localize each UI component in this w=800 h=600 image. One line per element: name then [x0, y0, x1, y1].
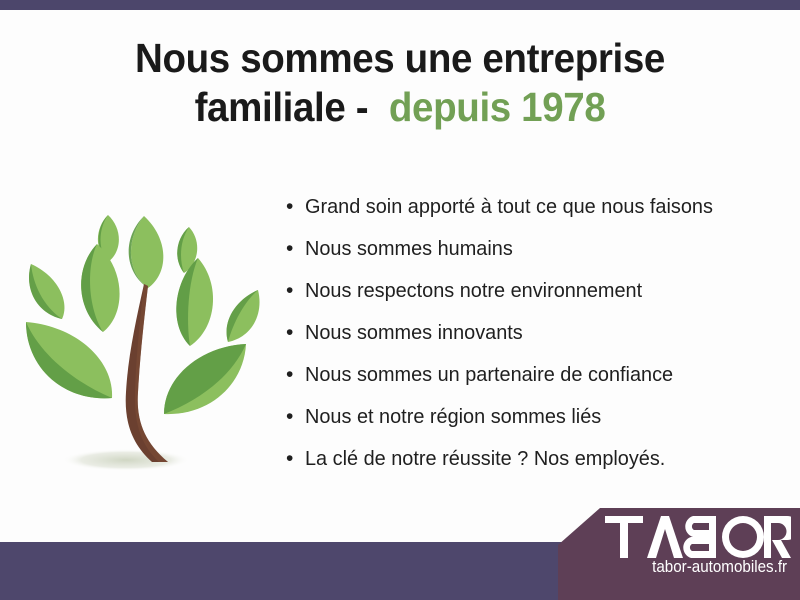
- bullet-marker-icon: •: [286, 276, 305, 305]
- leaf-mid-left: [81, 244, 119, 332]
- list-item: • Nous sommes innovants: [286, 318, 756, 360]
- list-item: • Nous sommes humains: [286, 234, 756, 276]
- list-item-label: Nous sommes un partenaire de confiance: [305, 360, 673, 389]
- list-item-label: Nous respectons notre environnement: [305, 276, 642, 305]
- bullet-marker-icon: •: [286, 192, 305, 221]
- page-title-line-2: familiale - depuis 1978: [24, 83, 776, 132]
- leaf-lower-right: [164, 344, 246, 414]
- brand-letter-o: [722, 516, 764, 558]
- bullet-marker-icon: •: [286, 360, 305, 389]
- leaf-top-center: [129, 216, 164, 288]
- list-item-label: Nous et notre région sommes liés: [305, 402, 601, 431]
- bullet-marker-icon: •: [286, 402, 305, 431]
- list-item-label: La clé de notre réussite ? Nos employés.: [305, 444, 665, 473]
- list-item: • Nous et notre région sommes liés: [286, 402, 756, 444]
- list-item: • Nous respectons notre environnement: [286, 276, 756, 318]
- top-accent-bar: [0, 0, 800, 10]
- bullet-marker-icon: •: [286, 444, 305, 473]
- tree-illustration: [18, 196, 272, 488]
- page-title-line-2-plain: familiale -: [195, 84, 369, 130]
- page-title-line-1: Nous sommes une entreprise: [24, 34, 776, 83]
- list-item-label: Nous sommes innovants: [305, 318, 523, 347]
- brand-website-url[interactable]: tabor-automobiles.fr: [577, 556, 800, 578]
- brand-letter-b: [683, 516, 716, 558]
- brand-letter-r: [764, 516, 791, 558]
- page-title: Nous sommes une entreprise familiale - d…: [24, 34, 776, 132]
- tree-trunk: [126, 284, 168, 462]
- brand-letter-a: [647, 516, 683, 558]
- bullet-list: • Grand soin apporté à tout ce que nous …: [286, 192, 756, 486]
- brand-logo-block[interactable]: tabor-automobiles.fr: [558, 508, 800, 600]
- list-item: • La clé de notre réussite ? Nos employé…: [286, 444, 756, 486]
- list-item: • Nous sommes un partenaire de confiance: [286, 360, 756, 402]
- page-title-accent: depuis 1978: [389, 84, 606, 130]
- slide-canvas: Nous sommes une entreprise familiale - d…: [0, 0, 800, 600]
- list-item-label: Grand soin apporté à tout ce que nous fa…: [305, 192, 713, 221]
- brand-letter-t: [605, 516, 643, 558]
- bullet-marker-icon: •: [286, 234, 305, 263]
- leaf-mid-right: [176, 258, 213, 346]
- bullet-marker-icon: •: [286, 318, 305, 347]
- leaf-far-right: [227, 290, 260, 342]
- brand-wordmark-tabor: [605, 516, 791, 558]
- list-item: • Grand soin apporté à tout ce que nous …: [286, 192, 756, 234]
- list-item-label: Nous sommes humains: [305, 234, 513, 263]
- leaf-far-left: [29, 264, 64, 319]
- leaf-lower-left: [26, 322, 112, 398]
- tree-shadow: [62, 449, 190, 471]
